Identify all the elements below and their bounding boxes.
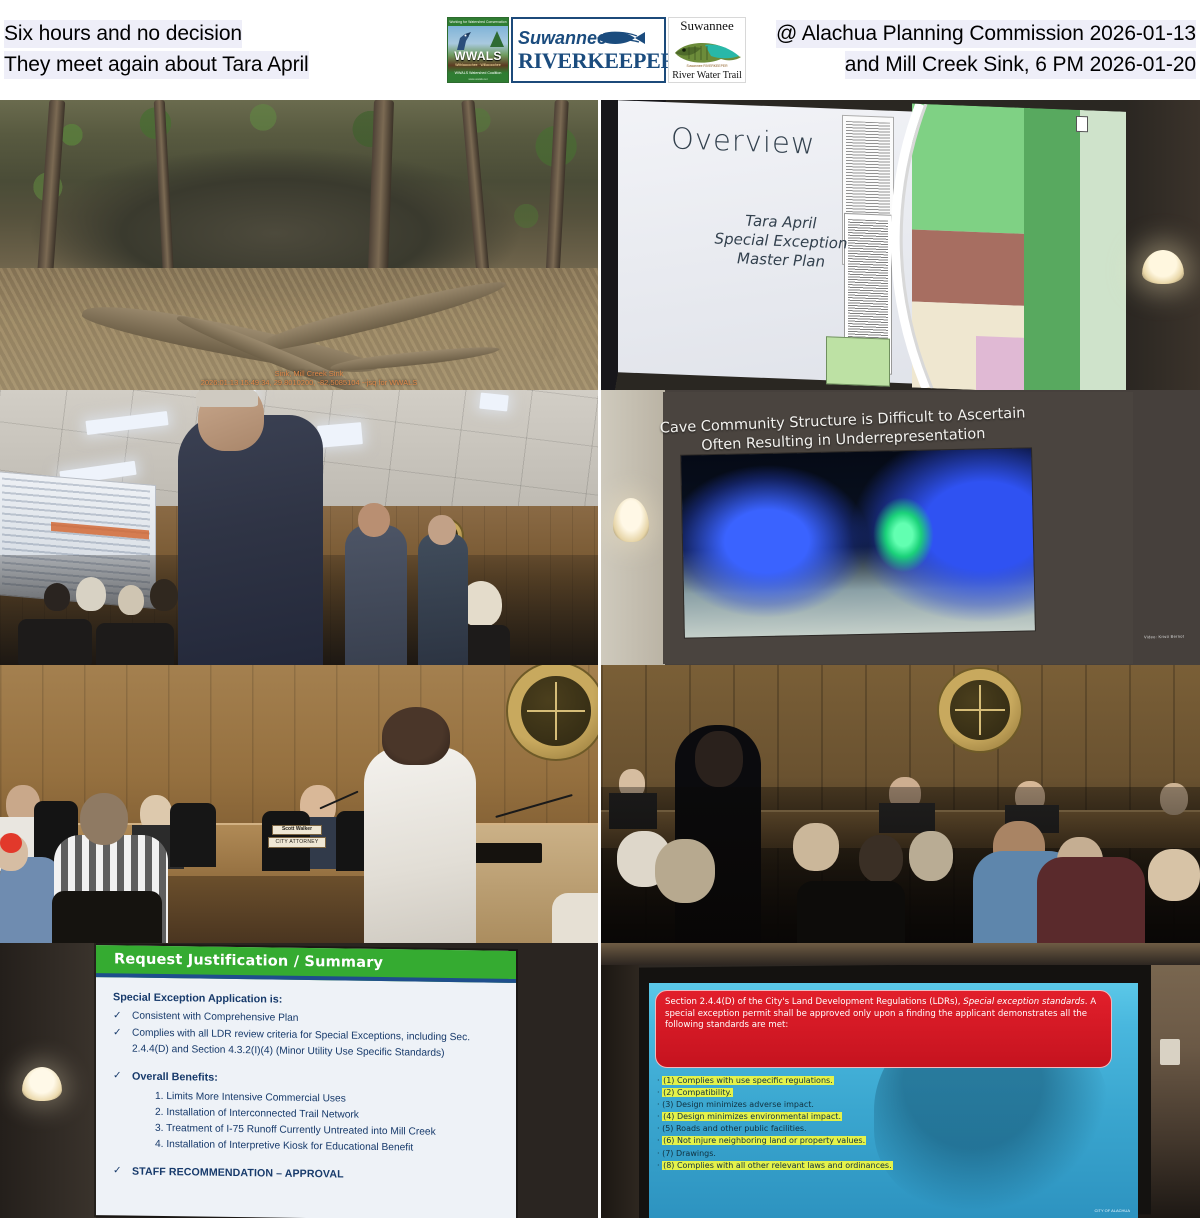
city-seal-inner [950, 680, 1009, 739]
audience-head [859, 835, 903, 883]
projection-room: Overview Tara April Special Exception Ma… [601, 100, 1200, 390]
audience-head [76, 577, 106, 611]
criteria-text: (3) Design minimizes adverse impact. [662, 1100, 814, 1109]
audience-head [118, 585, 144, 615]
overview-subtitle: Tara April Special Exception Master Plan [681, 209, 881, 274]
chair-back [170, 803, 216, 867]
chair-back [797, 881, 905, 943]
audience-member [552, 893, 598, 943]
speaker-hair [382, 707, 450, 765]
check-icon: ✓ [113, 1025, 123, 1057]
room-wall [1128, 100, 1200, 390]
standing-man-body [178, 415, 323, 665]
photo-cave-slide: Cave Community Structure is Difficult to… [601, 390, 1200, 665]
audience-member-maroon [1037, 857, 1145, 943]
riverkeeper-line-2: RIVERKEEPER [518, 49, 659, 73]
audience-head [80, 793, 128, 845]
criteria-item: · (8) Complies with all other relevant l… [657, 1160, 1118, 1172]
photo-grid: Sink, Mill Creek Sink 2026:01:13 15:49:3… [0, 100, 1200, 1218]
header-left-line-1: Six hours and no decision [4, 20, 242, 48]
standing-speaker-hair [695, 731, 743, 787]
criteria-text: (1) Complies with use specific regulatio… [662, 1076, 834, 1085]
rwt-mid-text: Suwannee RIVERKEEPER [669, 64, 745, 68]
council-chamber [0, 390, 598, 665]
check-icon: ✓ [113, 1008, 123, 1024]
photo-chamber-standing [0, 390, 598, 665]
fish-icon [595, 29, 657, 49]
suwannee-riverkeeper-logo: Suwannee RIVERKEEPER [511, 17, 666, 83]
wwals-sub1: Withlacoochee · Willacoochee [448, 63, 508, 68]
check-icon: ✓ [113, 1163, 123, 1179]
cave-projection-room: Cave Community Structure is Difficult to… [601, 390, 1200, 665]
criteria-text: (4) Design minimizes environmental impac… [662, 1112, 842, 1121]
commission-chamber: Scott Walker CITY ATTORNEY [0, 665, 598, 943]
wwals-logo: Working for Watershed Conservation WWALS… [447, 17, 509, 83]
nameplate-name-text: Scott Walker [282, 827, 312, 832]
recommendation-text: STAFF RECOMMENDATION – APPROVAL [132, 1164, 344, 1183]
criteria-text: (7) Drawings. [662, 1149, 716, 1158]
rwt-top-text: Suwannee [680, 19, 733, 33]
criteria-text: (6) Not injure neighboring land or prope… [662, 1136, 866, 1145]
nameplate-name: Scott Walker [272, 825, 322, 835]
projection-room: Request Justification / Summary Special … [0, 943, 598, 1218]
tree-icon [490, 31, 504, 47]
second-man-head [358, 503, 390, 537]
projection-room: Section 2.4.4(D) of the City's Land Deve… [601, 943, 1200, 1218]
second-man-body [345, 525, 407, 665]
wwals-coalition-name: WWALS Watershed Coalition [448, 71, 508, 75]
cave-photo-credit: Video: Kristi Bernot [1144, 634, 1184, 640]
check-item-text: Consistent with Comprehensive Plan [132, 1009, 298, 1027]
photo-request-justification-slide: Request Justification / Summary Special … [0, 943, 598, 1218]
photo-mill-creek-sink: Sink, Mill Creek Sink 2026:01:13 15:49:3… [0, 100, 598, 390]
benefits-header-text: Overall Benefits: [132, 1069, 218, 1086]
audience-head [150, 579, 178, 611]
slide-check-item: ✓ Complies with all LDR review criteria … [113, 1025, 504, 1062]
ceiling-light [317, 422, 363, 448]
underwater-cave-photo [681, 448, 1035, 637]
criteria-item: · (7) Drawings. [657, 1148, 1118, 1160]
commission-chamber-audience [601, 665, 1200, 943]
header-left-line-2: They meet again about Tara April [4, 51, 309, 79]
check-icon: ✓ [113, 1068, 123, 1087]
slide-header-bar: Request Justification / Summary [96, 945, 516, 983]
ceiling-light [479, 393, 509, 412]
audience-head [909, 831, 953, 881]
criteria-item: · (1) Complies with use specific regulat… [657, 1075, 1118, 1087]
chair-back [52, 891, 162, 943]
bass-fish-icon [671, 37, 743, 67]
seal-cross-horizontal [955, 709, 1005, 711]
city-seal-inner [521, 676, 590, 745]
overview-title: Overview [671, 121, 816, 161]
slide-recommendation: ✓ STAFF RECOMMENDATION – APPROVAL [113, 1163, 504, 1184]
criteria-item: · (2) Compatibility. [657, 1087, 1118, 1099]
slide-header-text: Request Justification / Summary [114, 951, 383, 971]
criteria-item: · (5) Roads and other public facilities. [657, 1123, 1118, 1135]
ceiling-light [85, 411, 168, 435]
criteria-text: (8) Complies with all other relevant law… [662, 1161, 893, 1170]
header-right-text: @ Alachua Planning Commission 2026-01-13… [776, 20, 1196, 79]
slide-surface: Section 2.4.4(D) of the City's Land Deve… [649, 983, 1138, 1218]
audience-head [44, 583, 70, 611]
forest-scene: Sink, Mill Creek Sink 2026:01:13 15:49:3… [0, 100, 598, 390]
nameplate-role: CITY ATTORNEY [268, 837, 326, 848]
criteria-item: · (4) Design minimizes environmental imp… [657, 1111, 1118, 1123]
audience-head [793, 823, 839, 871]
standing-man-hair [196, 390, 258, 407]
chair-back [18, 619, 92, 665]
left-wall-shadow [601, 943, 639, 1218]
criteria-text: (5) Roads and other public facilities. [662, 1124, 807, 1133]
chair-back [96, 623, 174, 665]
photo-ldr-criteria-slide: Section 2.4.4(D) of the City's Land Deve… [601, 943, 1200, 1218]
third-man-body [418, 533, 468, 665]
third-man-head [428, 515, 456, 545]
red-callout-box: Section 2.4.4(D) of the City's Land Deve… [655, 990, 1112, 1068]
audience-head [655, 839, 715, 903]
city-seal [937, 667, 1023, 753]
nameplate-role-text: CITY ATTORNEY [275, 840, 318, 845]
red-box-italic: Special exception standards [963, 997, 1084, 1007]
wwals-top-text: Working for Watershed Conservation [448, 18, 508, 26]
photo-caption: Sink, Mill Creek Sink 2026:01:13 15:49:3… [186, 369, 432, 387]
audience-head [1148, 849, 1200, 901]
slide-corner-logo: CITY OF ALACHUA [1095, 1208, 1131, 1213]
slide-surface: Request Justification / Summary Special … [96, 945, 516, 1218]
criteria-list: · (1) Complies with use specific regulat… [657, 1075, 1118, 1172]
wwals-url: www.wwals.net [448, 77, 508, 81]
logo-band: Working for Watershed Conservation WWALS… [447, 17, 746, 83]
criteria-item: · (6) Not injure neighboring land or pro… [657, 1135, 1118, 1147]
road-curve [880, 102, 952, 389]
check-item-text: Complies with all LDR review criteria fo… [132, 1026, 504, 1063]
header-right-line-2: and Mill Creek Sink, 6 PM 2026-01-20 [845, 51, 1196, 79]
wall-outlet-icon [1160, 1039, 1180, 1065]
criteria-item: · (3) Design minimizes adverse impact. [657, 1099, 1118, 1111]
river-water-trail-logo: Suwannee Suwannee RIVERKEEPER River Wate… [668, 17, 746, 83]
page-header: Six hours and no decision They meet agai… [0, 0, 1200, 100]
photo-caption-line-1: Sink, Mill Creek Sink [186, 369, 432, 378]
upper-wall [601, 943, 1200, 965]
wwals-wordmark: WWALS [448, 49, 508, 63]
red-microphone-icon [0, 833, 22, 853]
photo-overview-slide: Overview Tara April Special Exception Ma… [601, 100, 1200, 390]
photo-dais-speaker: Scott Walker CITY ATTORNEY [0, 665, 598, 943]
photo-caption-line-2: 2026:01:13 15:49:34, 29.8010200, -82.508… [186, 378, 432, 387]
slide-lead-text: Special Exception Application is: [113, 989, 504, 1010]
seal-cross-horizontal [527, 710, 585, 713]
speaker-white-jacket [364, 747, 476, 943]
header-right-line-1: @ Alachua Planning Commission 2026-01-13 [776, 20, 1196, 48]
criteria-text: (2) Compatibility. [662, 1088, 733, 1097]
header-left-text: Six hours and no decision They meet agai… [4, 20, 309, 79]
rwt-bottom-text: River Water Trail [672, 70, 742, 81]
slide-body: Special Exception Application is: ✓ Cons… [113, 989, 504, 1185]
red-box-line-1: Section 2.4.4(D) of the City's Land Deve… [665, 997, 961, 1007]
photo-audience [601, 665, 1200, 943]
